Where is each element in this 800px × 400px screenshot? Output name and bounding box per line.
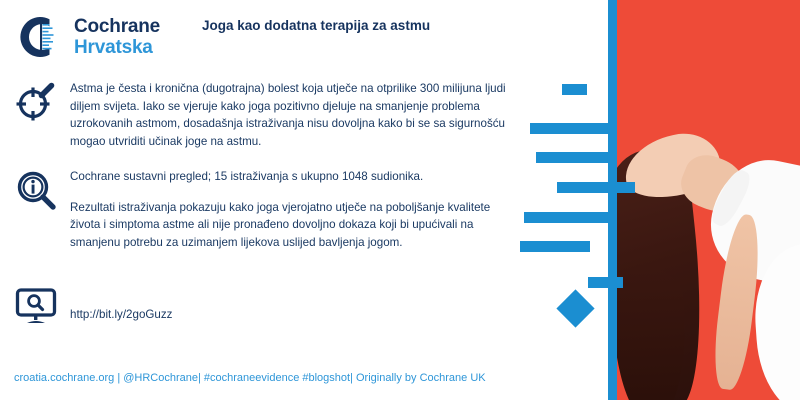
paragraph: Cochrane sustavni pregled; 15 istraživan… [70, 168, 510, 186]
forest-plot-bar [588, 277, 623, 288]
content-row-link-text: http://bit.ly/2goGuzz [70, 284, 510, 324]
cochrane-forest-plot-logo-icon [18, 14, 64, 60]
forest-plot-decoration [520, 0, 630, 400]
content-row-overview: Astma je česta i kronična (dugotrajna) b… [14, 80, 510, 150]
info-magnifier-icon [14, 168, 58, 212]
forest-plot-bar [562, 84, 587, 95]
paragraph: Rezultati istraživanja pokazuju kako jog… [70, 199, 510, 252]
forest-plot-diamond [556, 289, 594, 327]
blogshot-infographic: Cochrane Hrvatska Joga kao dodatna terap… [0, 0, 800, 400]
forest-plot-bar [530, 123, 615, 134]
blogshot-link[interactable]: http://bit.ly/2goGuzz [70, 306, 510, 324]
logo-name-cochrane: Cochrane [74, 17, 160, 36]
page-title: Joga kao dodatna terapija za astmu [202, 18, 512, 35]
content-row-findings-text: Cochrane sustavni pregled; 15 istraživan… [70, 168, 510, 251]
yoga-backbend-photo [608, 0, 800, 400]
content-row-overview-text: Astma je česta i kronična (dugotrajna) b… [70, 80, 510, 150]
forest-plot-bar [520, 241, 590, 252]
footer-credits: croatia.cochrane.org | @HRCochrane| #coc… [14, 372, 486, 384]
target-crosshair-icon [14, 80, 58, 124]
forest-plot-axis [608, 0, 617, 400]
forest-plot-bar [524, 212, 614, 223]
monitor-search-icon [14, 284, 58, 328]
logo-name-hrvatska: Hrvatska [74, 38, 160, 57]
forest-plot-bar [536, 152, 610, 163]
forest-plot-bar [557, 182, 635, 193]
content-row-link: http://bit.ly/2goGuzz [14, 284, 510, 328]
paragraph: Astma je česta i kronična (dugotrajna) b… [70, 80, 510, 150]
content-row-findings: Cochrane sustavni pregled; 15 istraživan… [14, 168, 510, 251]
cochrane-logo: Cochrane Hrvatska [18, 14, 160, 60]
